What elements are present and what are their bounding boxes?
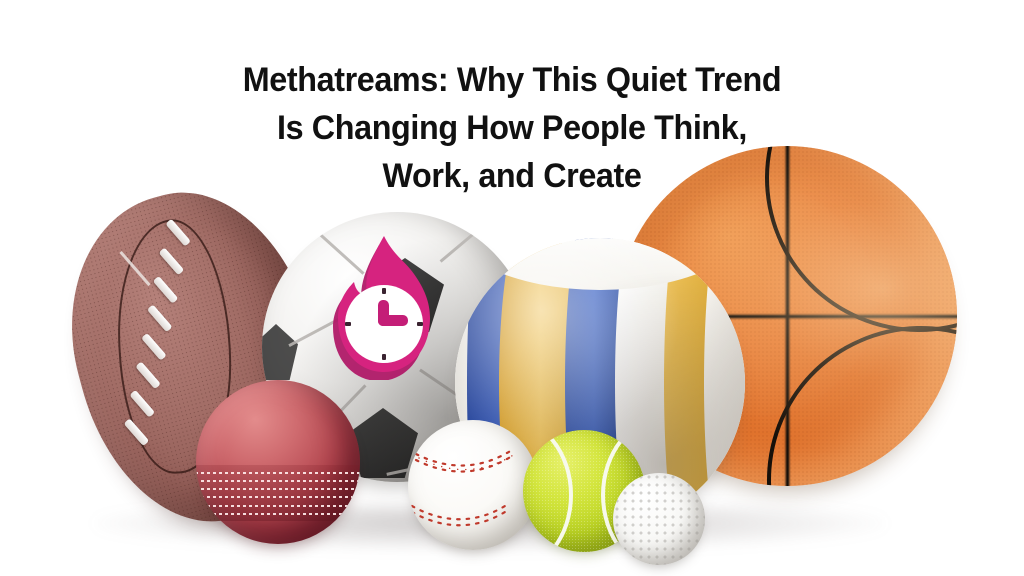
flame-clock-logo <box>320 232 452 380</box>
cricket-stitch-line <box>196 496 360 498</box>
cricket-stitch-line <box>196 488 360 490</box>
cricket-stitch-line <box>196 505 360 507</box>
clock-tick-3 <box>417 322 423 326</box>
clock-tick-12 <box>382 288 386 294</box>
clock-tick-6 <box>382 354 386 360</box>
baseball-stitching <box>408 420 538 550</box>
cricket-stitch-line <box>196 480 360 482</box>
cricket-ball <box>196 380 360 544</box>
sports-balls-illustration <box>0 0 1024 576</box>
baseball-ball <box>408 420 538 550</box>
cricket-stitch-line <box>196 513 360 515</box>
golf-ball <box>613 473 705 565</box>
article-hero-image: Methatreams: Why This Quiet Trend Is Cha… <box>0 0 1024 576</box>
cricket-stitch-line <box>196 472 360 474</box>
golf-dimple-texture <box>613 473 705 565</box>
clock-minute-hand <box>378 315 408 326</box>
clock-tick-9 <box>345 322 351 326</box>
